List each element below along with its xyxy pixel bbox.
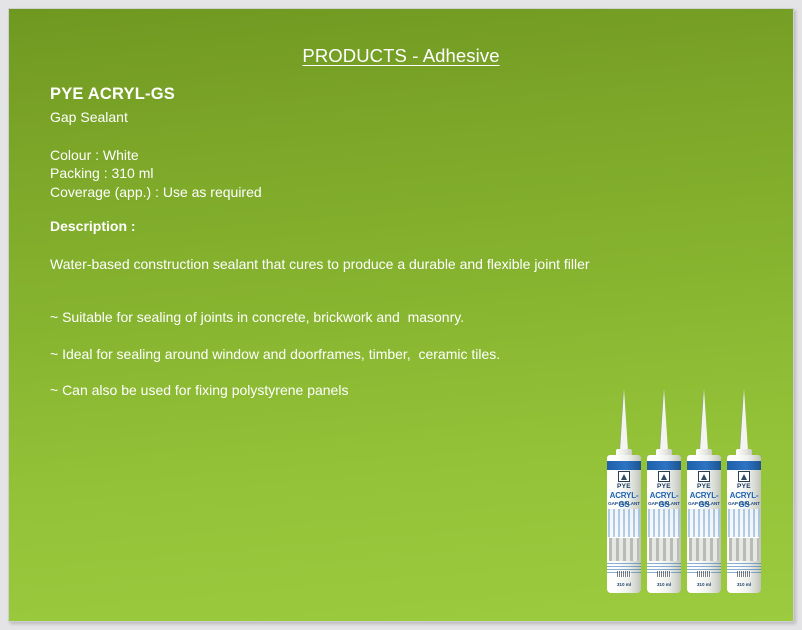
spec-packing: Packing : 310 ml [50, 164, 262, 182]
feature-bullet: ~ Suitable for sealing of joints in conc… [50, 309, 500, 325]
label-variant: ACRYL-GS [686, 491, 722, 509]
label-applicator-strip [689, 537, 719, 561]
sealant-cartridge: PYE ACRYL-GS GAP SEALANT 310 ml [727, 443, 761, 593]
specification-list: Colour : White Packing : 310 ml Coverage… [50, 146, 262, 201]
label-brand: PYE [647, 483, 681, 490]
brand-logo-icon [658, 471, 670, 482]
description-intro: Water-based construction sealant that cu… [50, 255, 590, 274]
label-diagram [688, 509, 720, 537]
label-variant: ACRYL-GS [606, 491, 642, 509]
product-subtitle: Gap Sealant [50, 109, 128, 125]
label-brand: PYE [687, 483, 721, 490]
brand-logo-icon [618, 471, 630, 482]
brand-logo-icon [738, 471, 750, 482]
label-volume: 310 ml [607, 582, 641, 587]
label-brand: PYE [607, 483, 641, 490]
label-diagram [608, 509, 640, 537]
label-band [687, 461, 721, 470]
label-applicator-strip [729, 537, 759, 561]
page-title: PRODUCTS - Adhesive [9, 45, 793, 67]
barcode-icon [737, 571, 751, 577]
sealant-cartridge: PYE ACRYL-GS GAP SEALANT 310 ml [687, 443, 721, 593]
feature-bullet-list: ~ Suitable for sealing of joints in conc… [50, 309, 500, 419]
product-photo: PYE ACRYL-GS GAP SEALANT 310 ml PYE ACRY… [605, 381, 781, 593]
nozzle-icon [620, 389, 628, 451]
spec-coverage: Coverage (app.) : Use as required [50, 183, 262, 201]
label-band [607, 461, 641, 470]
description-heading: Description : [50, 218, 136, 234]
spec-colour: Colour : White [50, 146, 262, 164]
barcode-icon [617, 571, 631, 577]
label-applicator-strip [609, 537, 639, 561]
label-tagline: GAP SEALANT [607, 501, 641, 506]
brand-logo-icon [698, 471, 710, 482]
cartridge-body: PYE ACRYL-GS GAP SEALANT 310 ml [647, 455, 681, 593]
sealant-cartridge: PYE ACRYL-GS GAP SEALANT 310 ml [647, 443, 681, 593]
cartridge-body: PYE ACRYL-GS GAP SEALANT 310 ml [727, 455, 761, 593]
label-tagline: GAP SEALANT [647, 501, 681, 506]
nozzle-icon [660, 389, 668, 451]
cartridge-body: PYE ACRYL-GS GAP SEALANT 310 ml [687, 455, 721, 593]
cartridge-body: PYE ACRYL-GS GAP SEALANT 310 ml [607, 455, 641, 593]
label-volume: 310 ml [727, 582, 761, 587]
nozzle-icon [700, 389, 708, 451]
product-name: PYE ACRYL-GS [50, 85, 175, 104]
sealant-cartridge: PYE ACRYL-GS GAP SEALANT 310 ml [607, 443, 641, 593]
label-band [647, 461, 681, 470]
barcode-icon [657, 571, 671, 577]
barcode-icon [697, 571, 711, 577]
label-diagram [728, 509, 760, 537]
label-volume: 310 ml [687, 582, 721, 587]
label-brand: PYE [727, 483, 761, 490]
label-applicator-strip [649, 537, 679, 561]
label-band [727, 461, 761, 470]
label-tagline: GAP SEALANT [727, 501, 761, 506]
feature-bullet: ~ Can also be used for fixing polystyren… [50, 382, 500, 398]
label-variant: ACRYL-GS [726, 491, 762, 509]
product-slide: PRODUCTS - Adhesive PYE ACRYL-GS Gap Sea… [8, 8, 794, 622]
label-variant: ACRYL-GS [646, 491, 682, 509]
label-diagram [648, 509, 680, 537]
feature-bullet: ~ Ideal for sealing around window and do… [50, 346, 500, 362]
nozzle-icon [740, 389, 748, 451]
label-tagline: GAP SEALANT [687, 501, 721, 506]
label-volume: 310 ml [647, 582, 681, 587]
